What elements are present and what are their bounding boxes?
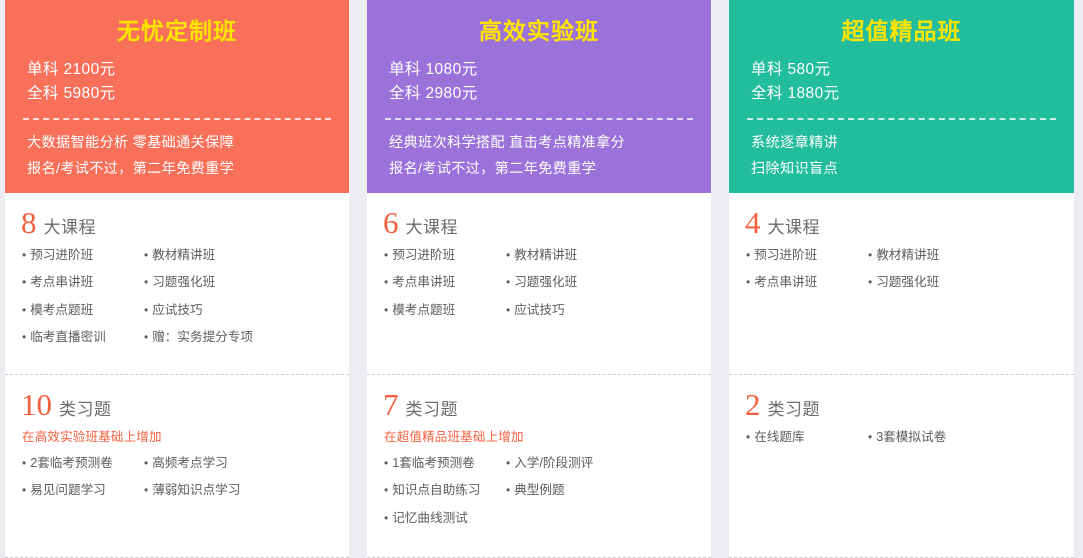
exercises-heading: 2类习题 — [743, 389, 1060, 420]
price-line-full: 全科 1880元 — [743, 82, 1060, 106]
exercises-heading: 10类习题 — [19, 389, 335, 420]
list-item[interactable]: •教材精讲班 — [868, 244, 1060, 267]
list-item[interactable]: •应试技巧 — [144, 299, 335, 322]
price-line-full: 全科 5980元 — [19, 82, 335, 106]
courses-item-grid: •预习进阶班•教材精讲班•考点串讲班•习题强化班•模考点题班•应试技巧 — [381, 244, 697, 322]
list-item-empty — [506, 507, 697, 530]
list-item-label: 考点串讲班 — [392, 271, 455, 294]
list-item-label: 应试技巧 — [514, 299, 564, 322]
bullet-icon: • — [22, 276, 26, 288]
header-dashed-divider — [385, 118, 693, 120]
exercises-section: 2类习题•在线题库•3套模拟试卷 — [729, 375, 1074, 558]
list-item[interactable]: •赠：实务提分专项 — [144, 326, 335, 349]
list-item-label: 应试技巧 — [152, 299, 202, 322]
bullet-icon: • — [22, 331, 26, 343]
list-item-label: 临考直播密训 — [30, 326, 106, 349]
bullet-icon: • — [506, 484, 510, 496]
feature-line-1: 大数据智能分析 零基础通关保障 — [19, 130, 335, 156]
exercises-item-grid: •在线题库•3套模拟试卷 — [743, 426, 1060, 449]
courses-label: 大课程 — [768, 213, 821, 238]
list-item-label: 教材精讲班 — [514, 244, 577, 267]
list-item-label: 在线题库 — [754, 426, 804, 449]
list-item[interactable]: •教材精讲班 — [144, 244, 335, 267]
bullet-icon: • — [384, 304, 388, 316]
list-item[interactable]: •3套模拟试卷 — [868, 426, 1060, 449]
list-item-label: 教材精讲班 — [152, 244, 215, 267]
feature-line-2: 报名/考试不过，第二年免费重学 — [19, 156, 335, 182]
exercises-note: 在高效实验班基础上增加 — [19, 426, 335, 445]
list-item-label: 考点串讲班 — [30, 271, 93, 294]
bullet-icon: • — [144, 484, 148, 496]
bullet-icon: • — [144, 457, 148, 469]
list-item[interactable]: •预习进阶班 — [746, 244, 868, 267]
bullet-icon: • — [868, 249, 872, 261]
plan-title: 高效实验班 — [381, 0, 697, 58]
courses-item-grid: •预习进阶班•教材精讲班•考点串讲班•习题强化班•模考点题班•应试技巧•临考直播… — [19, 244, 335, 349]
courses-label: 大课程 — [406, 213, 459, 238]
courses-section: 4大课程•预习进阶班•教材精讲班•考点串讲班•习题强化班 — [729, 193, 1074, 374]
exercises-section: 10类习题在高效实验班基础上增加•2套临考预测卷•高频考点学习•易见问题学习•薄… — [5, 375, 349, 558]
bullet-icon: • — [384, 276, 388, 288]
list-item-label: 知识点自助练习 — [392, 479, 480, 502]
list-item-label: 习题强化班 — [876, 271, 939, 294]
list-item[interactable]: •易见问题学习 — [22, 479, 144, 502]
list-item[interactable]: •2套临考预测卷 — [22, 452, 144, 475]
header-dashed-divider — [23, 118, 331, 120]
bullet-icon: • — [868, 431, 872, 443]
feature-line-2: 报名/考试不过，第二年免费重学 — [381, 156, 697, 182]
list-item-label: 预习进阶班 — [30, 244, 93, 267]
price-line-single: 单科 1080元 — [381, 58, 697, 82]
list-item[interactable]: •1套临考预测卷 — [384, 452, 506, 475]
bullet-icon: • — [22, 484, 26, 496]
list-item-label: 典型例题 — [514, 479, 564, 502]
courses-count: 4 — [745, 207, 761, 238]
bullet-icon: • — [506, 304, 510, 316]
bullet-icon: • — [144, 276, 148, 288]
list-item-label: 高频考点学习 — [152, 452, 228, 475]
exercises-count: 10 — [21, 389, 52, 420]
bullet-icon: • — [384, 457, 388, 469]
bullet-icon: • — [144, 249, 148, 261]
plan-header: 超值精品班单科 580元全科 1880元系统逐章精讲扫除知识盲点 — [729, 0, 1074, 193]
list-item-label: 预习进阶班 — [392, 244, 455, 267]
list-item-label: 易见问题学习 — [30, 479, 106, 502]
list-item[interactable]: •考点串讲班 — [384, 271, 506, 294]
bullet-icon: • — [746, 431, 750, 443]
list-item-label: 2套临考预测卷 — [30, 452, 113, 475]
list-item[interactable]: •知识点自助练习 — [384, 479, 506, 502]
bullet-icon: • — [746, 249, 750, 261]
list-item-label: 入学/阶段测评 — [514, 452, 593, 475]
courses-heading: 4大课程 — [743, 207, 1060, 238]
list-item[interactable]: •临考直播密训 — [22, 326, 144, 349]
price-line-single: 单科 2100元 — [19, 58, 335, 82]
feature-line-2: 扫除知识盲点 — [743, 156, 1060, 182]
list-item-label: 薄弱知识点学习 — [152, 479, 240, 502]
list-item[interactable]: •薄弱知识点学习 — [144, 479, 335, 502]
bullet-icon: • — [506, 457, 510, 469]
plan-header: 高效实验班单科 1080元全科 2980元经典班次科学搭配 直击考点精准拿分报名… — [367, 0, 711, 193]
list-item-label: 考点串讲班 — [754, 271, 817, 294]
bullet-icon: • — [144, 304, 148, 316]
list-item[interactable]: •教材精讲班 — [506, 244, 697, 267]
plan-card-worry-free-custom-class[interactable]: 无忧定制班单科 2100元全科 5980元大数据智能分析 零基础通关保障报名/考… — [5, 0, 349, 558]
bullet-icon: • — [22, 249, 26, 261]
list-item[interactable]: •应试技巧 — [506, 299, 697, 322]
bullet-icon: • — [384, 484, 388, 496]
list-item-label: 教材精讲班 — [876, 244, 939, 267]
pricing-plans-board: 无忧定制班单科 2100元全科 5980元大数据智能分析 零基础通关保障报名/考… — [0, 0, 1083, 558]
bullet-icon: • — [506, 249, 510, 261]
list-item-label: 模考点题班 — [392, 299, 455, 322]
list-item-label: 记忆曲线测试 — [392, 507, 468, 530]
list-item-label: 预习进阶班 — [754, 244, 817, 267]
exercises-item-grid: •2套临考预测卷•高频考点学习•易见问题学习•薄弱知识点学习 — [19, 452, 335, 503]
feature-line-1: 系统逐章精讲 — [743, 130, 1060, 156]
exercises-heading: 7类习题 — [381, 389, 697, 420]
list-item-label: 习题强化班 — [152, 271, 215, 294]
plan-title: 超值精品班 — [743, 0, 1060, 58]
list-item[interactable]: •模考点题班 — [384, 299, 506, 322]
courses-section: 8大课程•预习进阶班•教材精讲班•考点串讲班•习题强化班•模考点题班•应试技巧•… — [5, 193, 349, 374]
bullet-icon: • — [384, 512, 388, 524]
list-item-label: 1套临考预测卷 — [392, 452, 475, 475]
plan-card-value-premium-class[interactable]: 超值精品班单科 580元全科 1880元系统逐章精讲扫除知识盲点4大课程•预习进… — [729, 0, 1074, 558]
list-item[interactable]: •记忆曲线测试 — [384, 507, 506, 530]
plan-header: 无忧定制班单科 2100元全科 5980元大数据智能分析 零基础通关保障报名/考… — [5, 0, 349, 193]
exercises-label: 类习题 — [59, 395, 112, 420]
price-line-single: 单科 580元 — [743, 58, 1060, 82]
list-item-label: 习题强化班 — [514, 271, 577, 294]
price-line-full: 全科 2980元 — [381, 82, 697, 106]
bullet-icon: • — [746, 276, 750, 288]
list-item[interactable]: •习题强化班 — [506, 271, 697, 294]
exercises-label: 类习题 — [406, 395, 459, 420]
courses-count: 8 — [21, 207, 37, 238]
courses-item-grid: •预习进阶班•教材精讲班•考点串讲班•习题强化班 — [743, 244, 1060, 295]
header-dashed-divider — [747, 118, 1056, 120]
bullet-icon: • — [144, 331, 148, 343]
list-item[interactable]: •考点串讲班 — [746, 271, 868, 294]
list-item[interactable]: •高频考点学习 — [144, 452, 335, 475]
list-item[interactable]: •习题强化班 — [144, 271, 335, 294]
bullet-icon: • — [22, 457, 26, 469]
plan-title: 无忧定制班 — [19, 0, 335, 58]
courses-heading: 8大课程 — [19, 207, 335, 238]
courses-label: 大课程 — [44, 213, 97, 238]
exercises-count: 2 — [745, 389, 761, 420]
list-item[interactable]: •习题强化班 — [868, 271, 1060, 294]
courses-heading: 6大课程 — [381, 207, 697, 238]
exercises-item-grid: •1套临考预测卷•入学/阶段测评•知识点自助练习•典型例题•记忆曲线测试 — [381, 452, 697, 530]
courses-section: 6大课程•预习进阶班•教材精讲班•考点串讲班•习题强化班•模考点题班•应试技巧 — [367, 193, 711, 374]
bullet-icon: • — [384, 249, 388, 261]
courses-count: 6 — [383, 207, 399, 238]
bullet-icon: • — [868, 276, 872, 288]
list-item[interactable]: •入学/阶段测评 — [506, 452, 697, 475]
list-item[interactable]: •典型例题 — [506, 479, 697, 502]
list-item[interactable]: •考点串讲班 — [22, 271, 144, 294]
bullet-icon: • — [506, 276, 510, 288]
list-item[interactable]: •预习进阶班 — [22, 244, 144, 267]
exercises-count: 7 — [383, 389, 399, 420]
list-item-label: 赠：实务提分专项 — [152, 326, 253, 349]
bullet-icon: • — [22, 304, 26, 316]
list-item[interactable]: •在线题库 — [746, 426, 868, 449]
list-item[interactable]: •模考点题班 — [22, 299, 144, 322]
list-item[interactable]: •预习进阶班 — [384, 244, 506, 267]
exercises-section: 7类习题在超值精品班基础上增加•1套临考预测卷•入学/阶段测评•知识点自助练习•… — [367, 375, 711, 558]
feature-line-1: 经典班次科学搭配 直击考点精准拿分 — [381, 130, 697, 156]
list-item-label: 模考点题班 — [30, 299, 93, 322]
list-item-label: 3套模拟试卷 — [876, 426, 946, 449]
exercises-label: 类习题 — [768, 395, 821, 420]
plan-card-efficient-experiment-class[interactable]: 高效实验班单科 1080元全科 2980元经典班次科学搭配 直击考点精准拿分报名… — [367, 0, 711, 558]
exercises-note: 在超值精品班基础上增加 — [381, 426, 697, 445]
